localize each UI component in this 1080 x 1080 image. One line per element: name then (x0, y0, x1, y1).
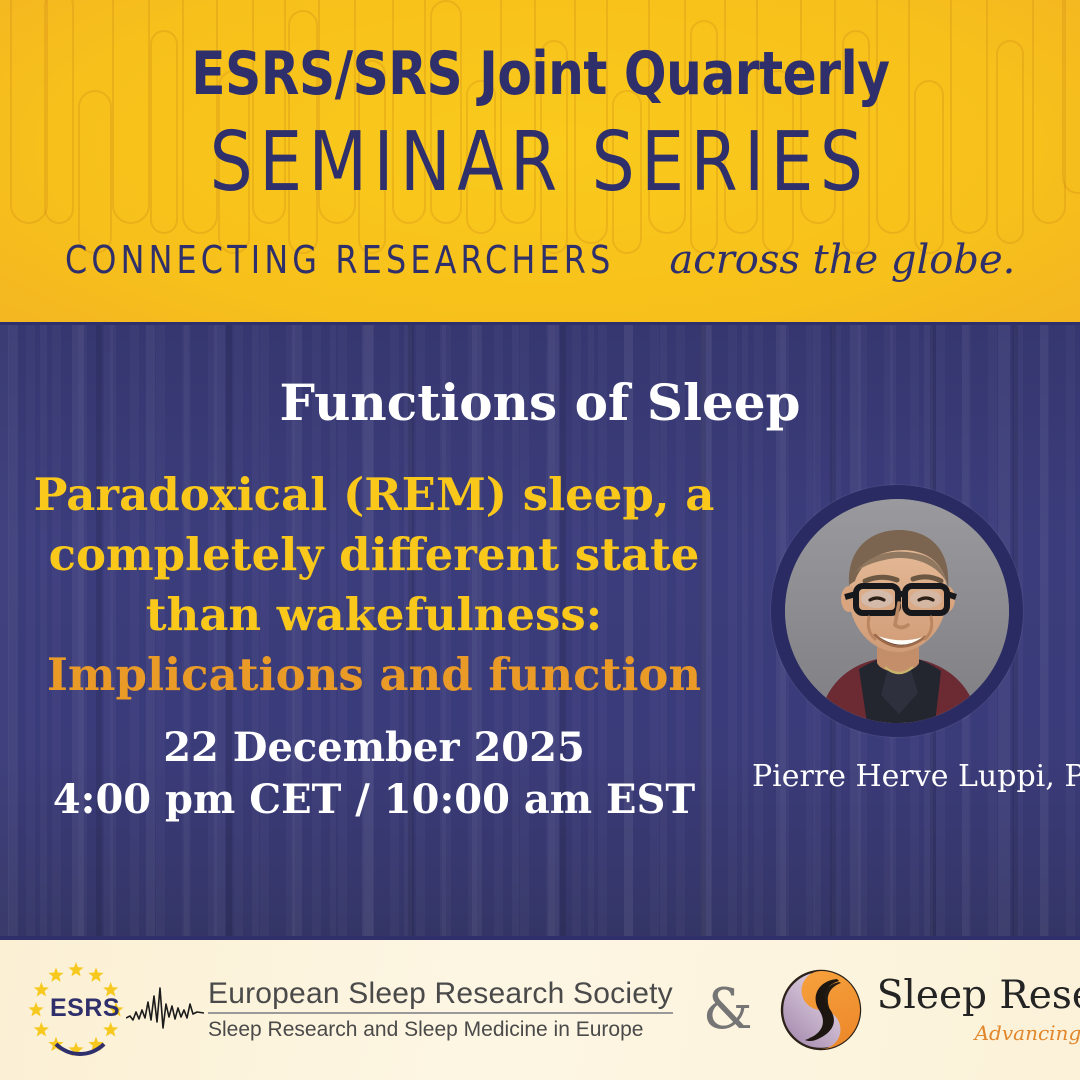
talk-block: Paradoxical (REM) sleep, a completely di… (24, 465, 724, 825)
poster-footer: ESRS European Sleep Research Society Sle… (0, 940, 1080, 1080)
event-time: 4:00 pm CET / 10:00 am EST (24, 774, 724, 825)
srs-yin-yang-icon (779, 968, 863, 1052)
poster-header: ESRS/SRS Joint Quarterly SEMINAR SERIES … (0, 0, 1080, 325)
seminar-announcement-poster: ESRS/SRS Joint Quarterly SEMINAR SERIES … (0, 0, 1080, 1080)
esrs-tagline: Sleep Research and Sleep Medicine in Eur… (208, 1018, 673, 1042)
talk-title-line-3: than wakefulness: (146, 588, 603, 641)
talk-title-line-2: completely different state (49, 528, 700, 581)
eeg-waveform-icon (126, 984, 204, 1036)
esrs-name: European Sleep Research Society (208, 978, 673, 1015)
speaker-block: Pierre Herve Luppi, PhD (752, 485, 1042, 794)
poster-main-body: Functions of Sleep Paradoxical (REM) sle… (0, 325, 1080, 940)
srs-tagline: Advancing Sleep & Circadian Science (877, 1021, 1080, 1045)
avatar (785, 499, 1009, 723)
header-title-line2: SEMINAR SERIES (210, 122, 870, 204)
esrs-logo: ESRS European Sleep Research Society Sle… (22, 960, 673, 1060)
talk-title-line-1: Paradoxical (REM) sleep, a (34, 468, 715, 521)
header-title-line1: ESRS/SRS Joint Quarterly (191, 44, 889, 104)
srs-logo: Sleep Research Society® Advancing Sleep … (779, 968, 1080, 1052)
header-tagline-italic: across the globe. (669, 240, 1015, 280)
header-tagline-regular: CONNECTING RESEARCHERS (65, 241, 614, 279)
header-tagline: CONNECTING RESEARCHERS across the globe. (65, 240, 1016, 280)
series-title: Functions of Sleep (0, 373, 1080, 432)
talk-title-line-4: Implications and function (24, 645, 724, 705)
eu-stars-circle-icon: ESRS (22, 960, 130, 1060)
srs-name-text: Sleep Research Society (877, 973, 1080, 1018)
ampersand-separator: & (703, 982, 753, 1038)
talk-title: Paradoxical (REM) sleep, a completely di… (24, 465, 724, 704)
speaker-photo-ring (771, 485, 1023, 737)
event-datetime: 22 December 2025 4:00 pm CET / 10:00 am … (24, 722, 724, 824)
speaker-name: Pierre Herve Luppi, PhD (752, 759, 1042, 794)
srs-name: Sleep Research Society® (877, 976, 1080, 1015)
event-date: 22 December 2025 (24, 722, 724, 773)
